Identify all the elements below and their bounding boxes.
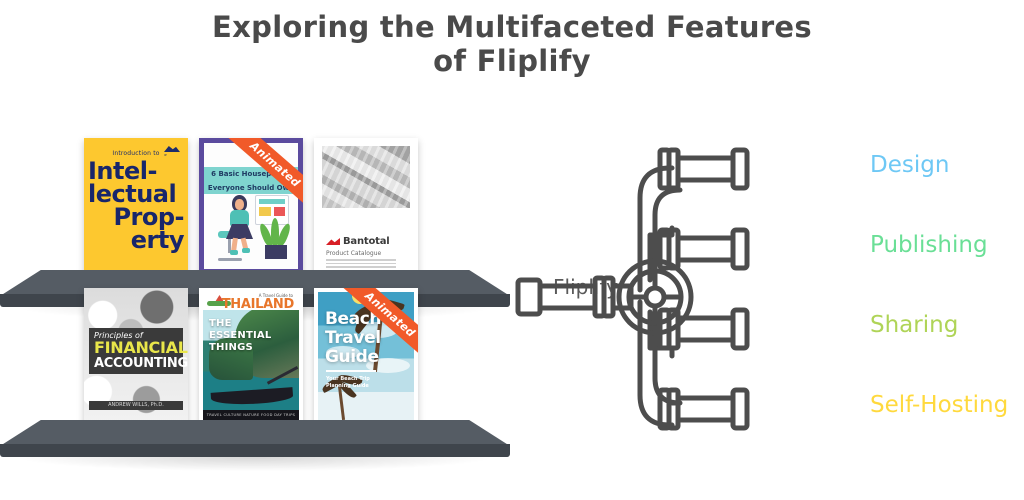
pipe-manifold-graphic [500,120,900,460]
cover-footer: TRAVEL CULTURE NATURE FOOD DAY TRIPS [203,410,299,420]
shelf-board-bottom [0,420,510,470]
book-title-line-3: THINGS [209,342,271,354]
pipe-body-publishing [678,238,733,260]
cover-footer-text: TRAVEL CULTURE NATURE FOOD DAY TRIPS [203,410,299,420]
page-title-line-1: Exploring the Multifaceted Features [0,10,1024,44]
book-inner-canvas: THE ESSENTIAL THINGS A Travel Guide to T… [203,292,299,420]
book-cover-houseplants[interactable]: 6 Basic Houseplants Everyone Should Own … [199,138,303,274]
book-cover-beach-travel-guide[interactable]: Beach Travel Guide Your Beach Trip Plann… [314,288,418,424]
pipe-flange-selfhosting-end [733,390,747,428]
branch-label-self-hosting: Self-Hosting [870,392,1008,418]
book-subtitle-line-2: Planning Guide [326,383,386,390]
pipe-body-selfhosting [678,398,733,420]
title-divider [326,370,376,372]
pipe-body-design [678,158,733,180]
book-subtitle-line-1: Your Beach Trip [326,376,386,383]
branch-label-sharing: Sharing [870,312,958,338]
book-title-line-1: THE [209,318,271,330]
book-author: ANDREW WILLS, Ph.D. [89,401,183,410]
book-title-line-2: Travel [325,329,403,348]
pipe-flange-inlet-left [518,280,540,314]
bantotal-logo: Bantotal [326,236,390,247]
pipe-manifold-diagram: Fliplify [500,120,1024,460]
cover-header: A Travel Guide to THAILAND [203,292,299,310]
potted-plant-icon [260,217,292,259]
pipe-flange-design-end [733,150,747,188]
valve-hub [646,288,664,306]
pipe-flange-sharing-end [733,310,747,348]
branch-label-design: Design [870,152,949,178]
destination-name: THAILAND [222,297,294,312]
pipe-body-inlet [540,286,595,308]
book-cover-intellectual-property[interactable]: IP Introduction to Intel- lectual Prop- … [84,138,188,274]
book-kicker: Introduction to [84,150,188,157]
book-title-line-3: Guide [325,348,403,367]
book-cover-financial-accounting[interactable]: Principles of FINANCIAL ACCOUNTING ANDRE… [84,288,188,424]
bantotal-mark-icon [326,238,340,245]
branch-label-publishing: Publishing [870,232,988,258]
brand-name: Bantotal [343,236,390,247]
book-title-line-2: ACCOUNTING [94,356,178,371]
page-title: Exploring the Multifaceted Features of F… [0,10,1024,78]
book-title-line-1: FINANCIAL [94,340,178,356]
book-title: THE ESSENTIAL THINGS [209,318,271,354]
book-subtitle: Your Beach Trip Planning Guide [326,376,386,390]
book-title: Intel- lectual Prop- erty [88,160,184,252]
book-title-line-2: ESSENTIAL [209,330,271,342]
longtail-boat-illustration [211,387,294,407]
book-cover-thailand[interactable]: THE ESSENTIAL THINGS A Travel Guide to T… [199,288,303,424]
fine-print-lines [326,259,396,270]
book-cover-bantotal-catalogue[interactable]: Bantotal Product Catalogue [314,138,418,274]
book-title-band: Principles of FINANCIAL ACCOUNTING [89,328,183,374]
pipe-flange-publishing-end [733,230,747,268]
page-title-line-2: of Fliplify [0,44,1024,78]
pipe-body-sharing [678,318,733,340]
bookshelf-illustration: IP Introduction to Intel- lectual Prop- … [0,120,510,500]
cover-photo [322,146,410,208]
book-subtitle: Product Catalogue [326,250,381,257]
book-title-line-4: erty [88,229,184,252]
